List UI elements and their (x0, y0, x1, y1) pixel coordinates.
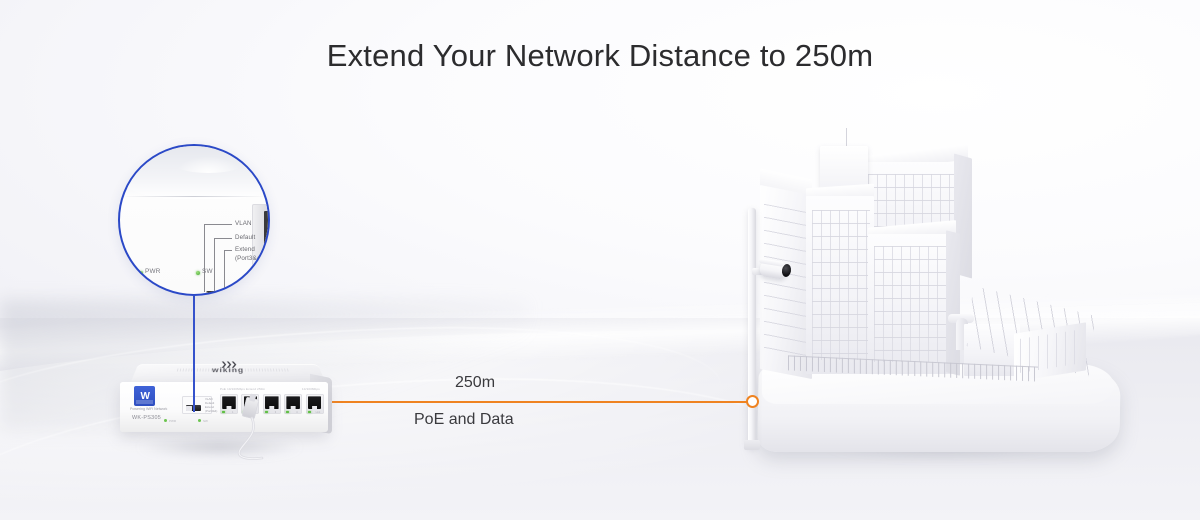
dip-switch-labels: VLAN Default Extend (Port3&4) (205, 398, 217, 414)
leader-line-extend-vert (224, 250, 225, 292)
mounting-pole (748, 208, 756, 448)
sw-led (198, 419, 201, 422)
dip-switch-lever (186, 406, 192, 411)
closeup-highlight (170, 149, 247, 173)
brand-badge-icon: W (134, 386, 155, 406)
closeup-label-default: Default (235, 234, 255, 241)
closeup-label-vlan: VLAN (235, 220, 252, 227)
closeup-dip-lever (206, 292, 219, 296)
port-label: Link (316, 411, 321, 414)
leader-line-vlan (204, 224, 232, 225)
dip-switch-block[interactable]: VLAN Default Extend (Port3&4) (182, 396, 212, 414)
closeup-label-extend: Extend (235, 246, 255, 253)
pwr-led-label: PWR (169, 419, 176, 423)
pwr-led (164, 419, 167, 422)
pole-base (744, 440, 760, 450)
switch-model-label: WK-PS305 (132, 415, 161, 421)
switch-front-panel: W Powering WiFi Network WK-PS305 VLAN De… (120, 382, 328, 432)
port-label: 4 (296, 411, 297, 414)
dip-switch-closeup: VLAN Default Extend (Port3&4) PWR SW (118, 144, 270, 296)
building-mid-floors (874, 246, 950, 362)
cable-curve (228, 400, 288, 462)
camera-pole-end-node (746, 395, 759, 408)
port-led (308, 411, 311, 413)
tower-left-floors (764, 204, 808, 363)
building-mid-side (946, 230, 960, 375)
link-payload-label: PoE and Data (414, 411, 514, 429)
closeup-pwr-label: PWR (145, 268, 161, 275)
badge-subtitle: Powering WiFi Network (130, 407, 167, 411)
leader-line-vlan-vert (204, 224, 205, 292)
ethernet-patch-cable (228, 400, 288, 462)
magnifier-connector-line (193, 296, 195, 412)
rj45-port[interactable]: Link (306, 394, 324, 414)
city-building-block-model (742, 128, 1122, 460)
rooftop-antenna (846, 128, 847, 148)
leader-line-default-vert (214, 238, 215, 292)
poe-switch: ❯❯❯ wiking W Powering WiFi Network WK-PS… (112, 358, 330, 444)
tower-front-floors (812, 210, 870, 360)
illustration-canvas: Extend Your Network Distance to 250m (0, 0, 1200, 520)
page-title: Extend Your Network Distance to 250m (0, 38, 1200, 74)
arrow-head (188, 294, 203, 296)
orange-pointer-arrow (158, 295, 210, 296)
closeup-sw-label: SW (202, 268, 213, 275)
closeup-label-ports: (Port3&4) (235, 255, 262, 262)
closeup-panel-seam (120, 196, 268, 197)
closeup-pwr-led (139, 271, 143, 275)
switch-top-brand: wiking (134, 366, 321, 373)
dip-label-ports: (Port3&4) (205, 410, 217, 414)
leader-line-default (214, 238, 232, 239)
ports-header-left: PoE 10/100Mbps Extend 250m (220, 387, 265, 391)
closeup-sw-led (196, 271, 200, 275)
port-led (222, 411, 225, 413)
closeup-dip-switch[interactable] (206, 291, 236, 296)
link-distance-label: 250m (455, 374, 495, 392)
ports-header-right: 10/100Mbps (302, 387, 320, 391)
sw-led-label: SW (203, 419, 208, 423)
leader-line-extend (224, 250, 232, 251)
